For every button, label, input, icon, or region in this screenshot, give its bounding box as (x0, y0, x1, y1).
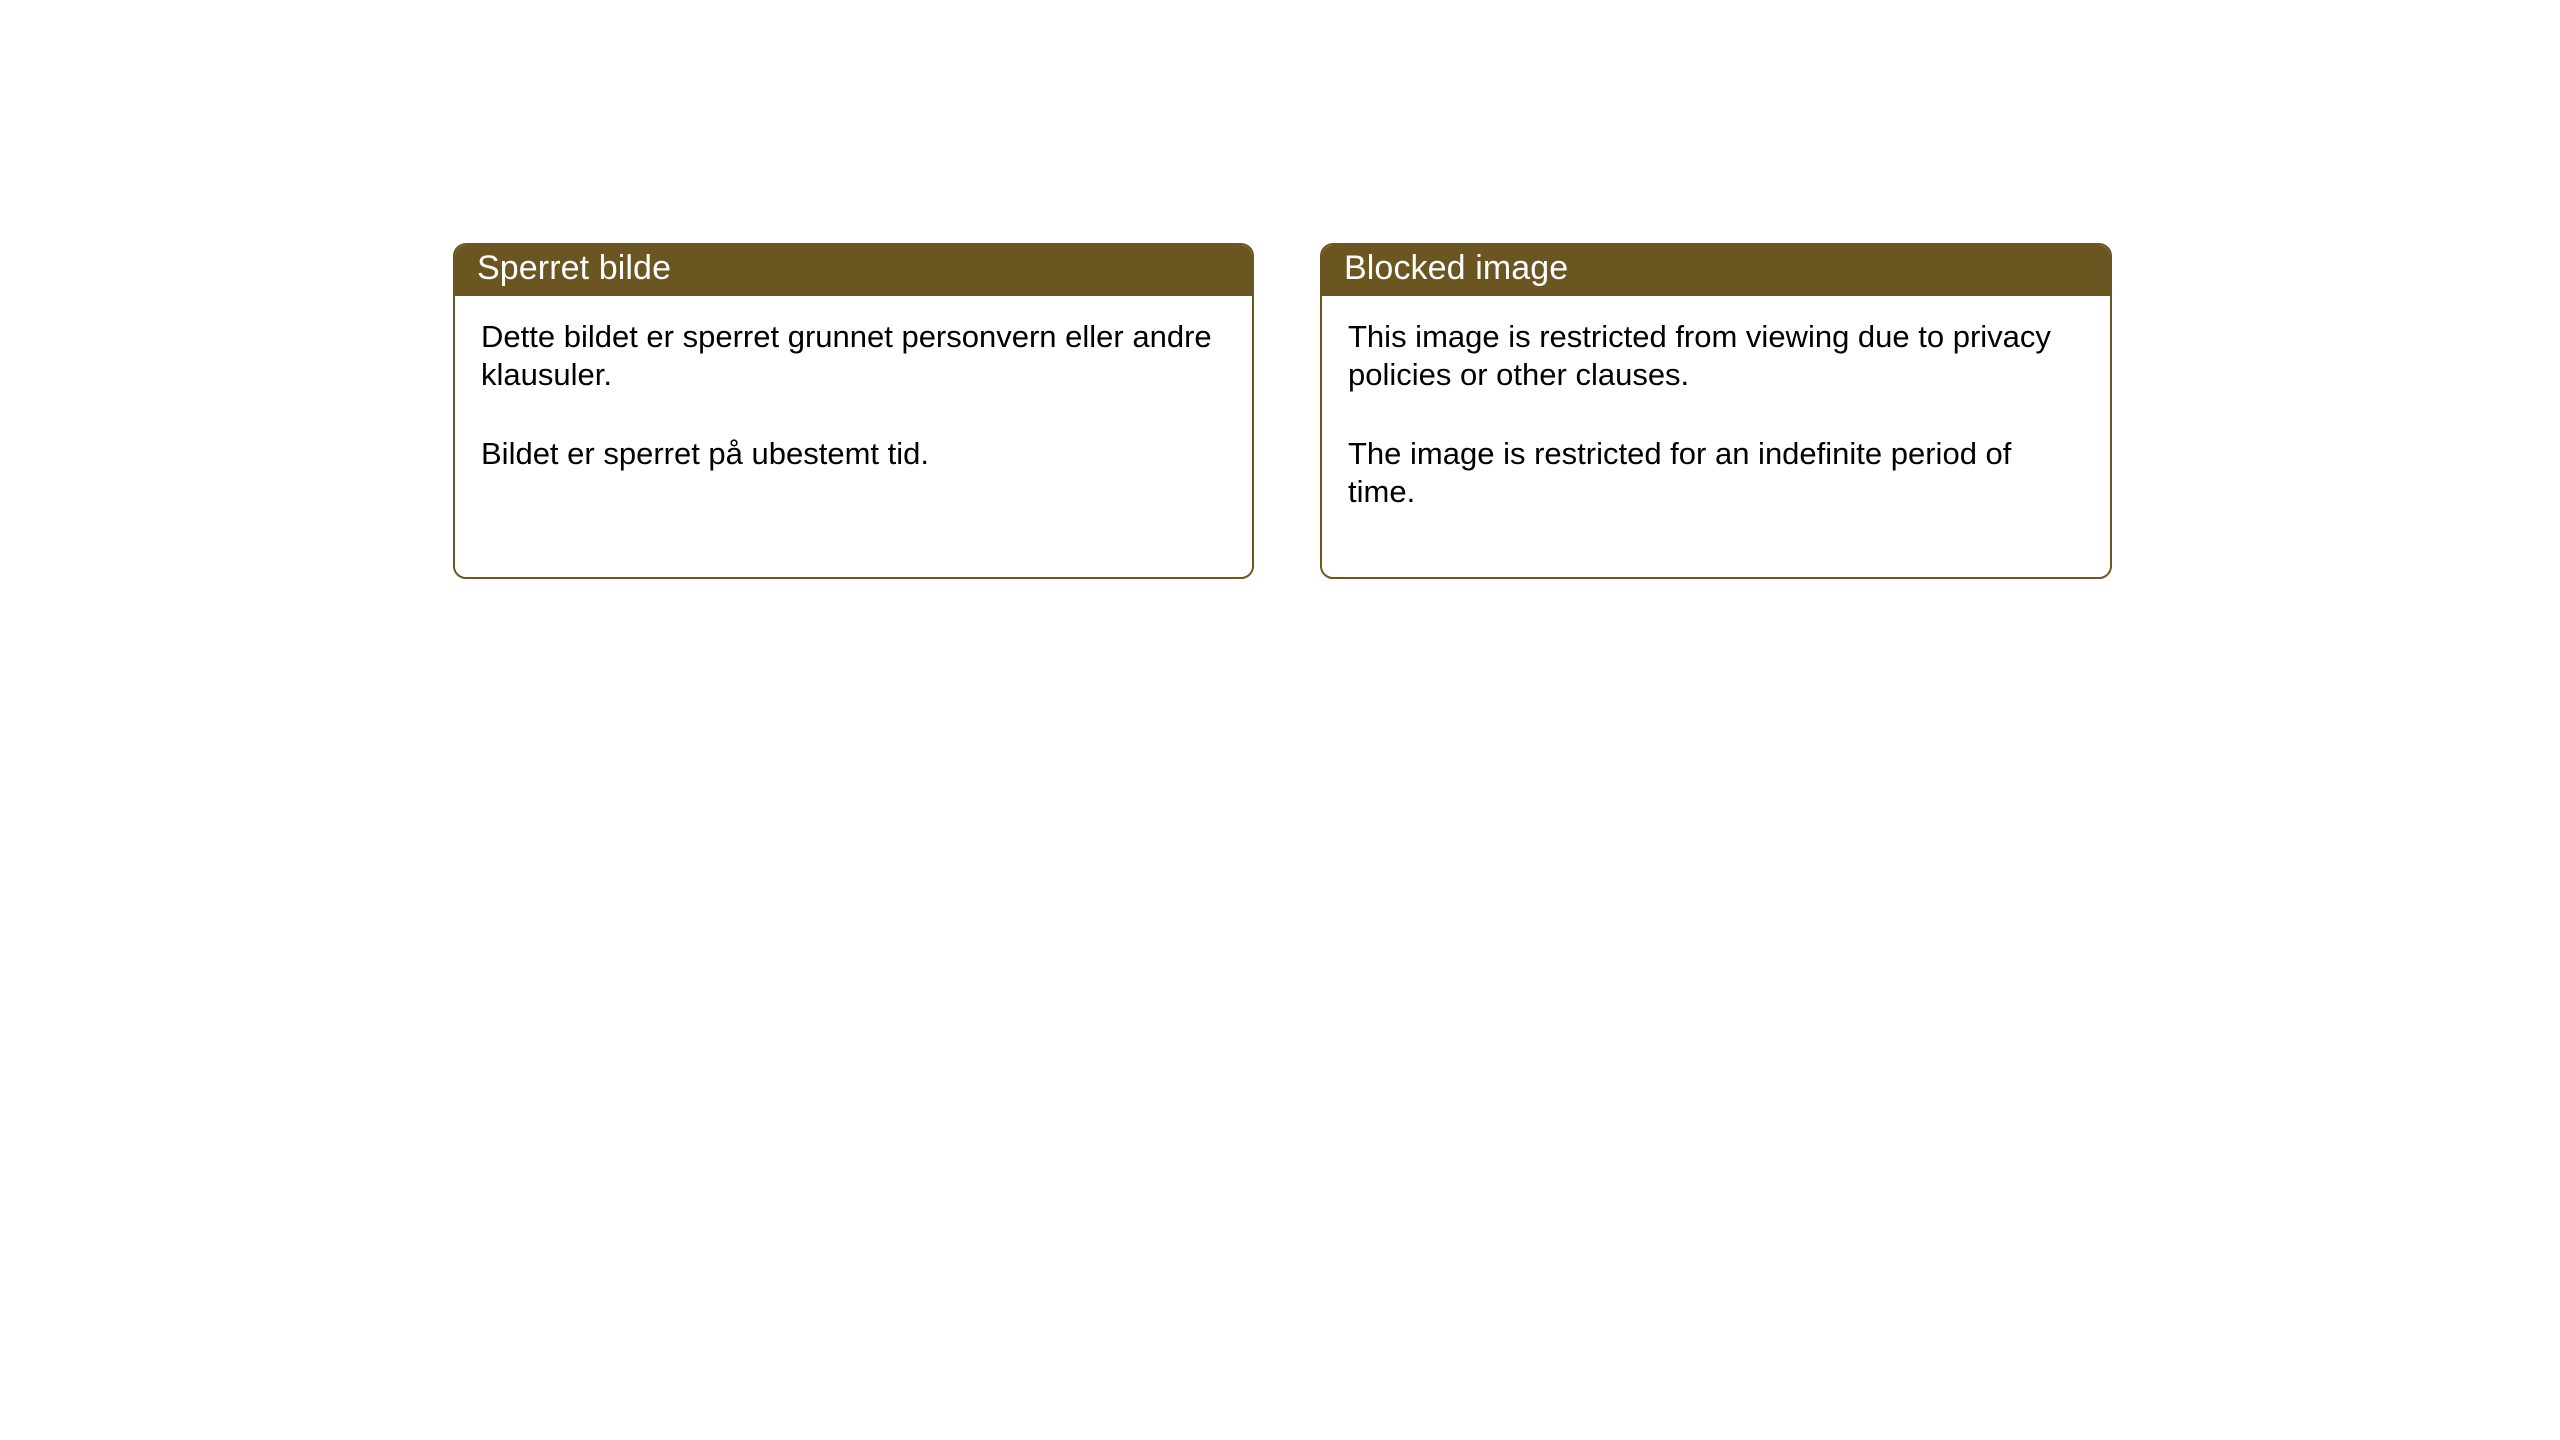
blocked-image-card-norwegian: Sperret bilde Dette bildet er sperret gr… (453, 243, 1254, 579)
card-header-english: Blocked image (1320, 243, 2112, 296)
card-paragraph-primary-english: This image is restricted from viewing du… (1348, 318, 2084, 395)
card-title-norwegian: Sperret bilde (477, 251, 671, 288)
card-paragraph-primary-norwegian: Dette bildet er sperret grunnet personve… (481, 318, 1226, 395)
card-title-english: Blocked image (1344, 251, 1568, 288)
card-body-english: This image is restricted from viewing du… (1322, 296, 2110, 577)
card-paragraph-secondary-norwegian: Bildet er sperret på ubestemt tid. (481, 435, 1226, 473)
blocked-image-notice-group: Sperret bilde Dette bildet er sperret gr… (453, 243, 2112, 579)
card-header-norwegian: Sperret bilde (453, 243, 1254, 296)
blocked-image-card-english: Blocked image This image is restricted f… (1320, 243, 2112, 579)
card-body-norwegian: Dette bildet er sperret grunnet personve… (455, 296, 1252, 577)
card-paragraph-secondary-english: The image is restricted for an indefinit… (1348, 435, 2084, 512)
